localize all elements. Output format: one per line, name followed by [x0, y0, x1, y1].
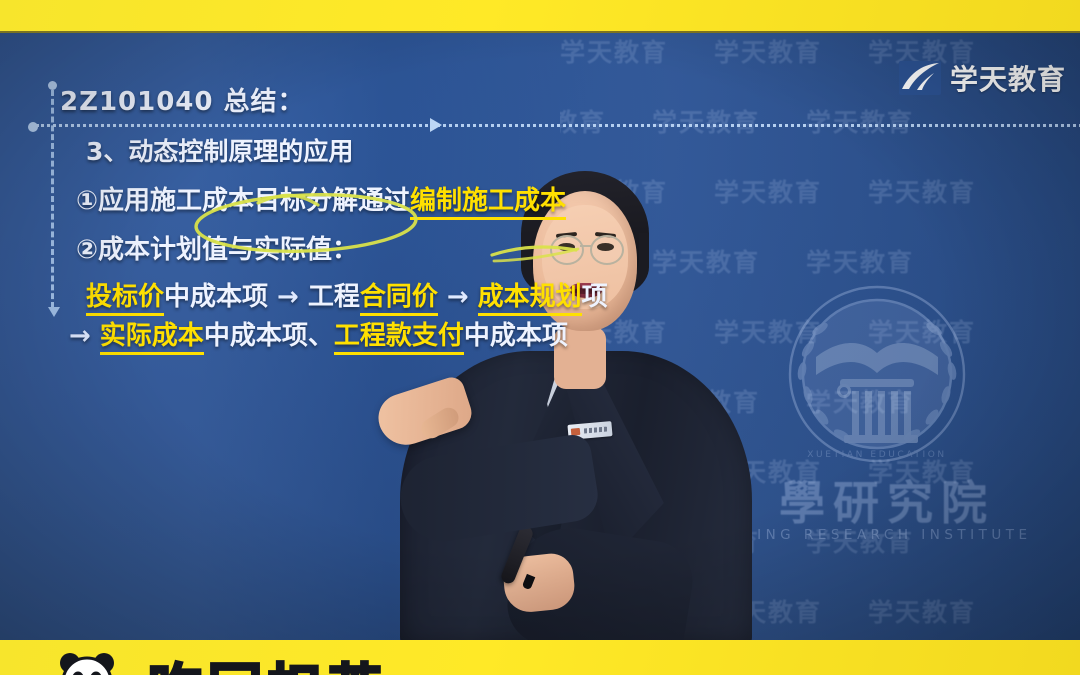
emblem-cn-text: 學研究院: [742, 467, 1032, 533]
line4-seg2-head: 工程: [308, 282, 360, 312]
watermark-text: 学天教育: [806, 243, 914, 279]
crest-icon: XUETIAN EDUCATION: [782, 279, 972, 469]
glasses-lens-right: [590, 235, 624, 265]
watermark-text: 学天教育: [868, 453, 976, 489]
watermark-text: 学天教育: [806, 523, 914, 559]
logo-wordmark: 学天教育: [950, 58, 1066, 98]
mouth: [570, 283, 602, 298]
panda-icon: [56, 650, 118, 675]
glasses-lens-left: [550, 235, 584, 265]
banner-text: 吃回扣苦: [148, 645, 388, 675]
glasses-bridge: [580, 245, 592, 247]
line2-marker: ①: [76, 186, 98, 216]
swoosh-mark-icon: [899, 61, 941, 95]
line3-text: 成本计划值与实际值：: [98, 235, 358, 265]
watermark-text: 学天教育: [868, 313, 976, 349]
watermark-text: 学天教育: [806, 383, 914, 419]
slide-title: 2Z101040 总结：: [60, 81, 305, 118]
watermark-text: 学天教育: [560, 103, 606, 139]
dotted-vertical-guide: [51, 90, 54, 308]
line3-marker: ②: [76, 235, 98, 265]
dotted-arrow-head: [430, 118, 442, 132]
watermark-text: 学天教育: [560, 33, 668, 69]
institute-emblem: XUETIAN EDUCATION 學研究院 HING RESEARCH INS…: [742, 279, 1032, 579]
neck: [554, 327, 606, 389]
watermark-text: 学天教育: [868, 173, 976, 209]
line2-plain-a: 应用施工: [98, 186, 202, 216]
flow-arrow-3: →: [60, 321, 100, 351]
dotted-horizontal-arrow: [36, 124, 1080, 127]
tick-annotation: [258, 195, 318, 205]
line4-seg1-highlight: 投标价: [86, 282, 164, 316]
screenshot-root: 学天教育学天教育学天教育 学天教育学天教育学天教育 学天教育学天教育学天教育 学…: [0, 0, 1080, 675]
slide-line-3: ②成本计划值与实际值：: [76, 229, 358, 266]
flow-arrow-1: →: [268, 282, 308, 312]
lecture-video-frame: 学天教育学天教育学天教育 学天教育学天教育学天教育 学天教育学天教育学天教育 学…: [0, 33, 1080, 640]
crest-caption: XUETIAN EDUCATION: [807, 450, 946, 460]
top-yellow-band: [0, 0, 1080, 33]
watermark-text: 学天教育: [714, 33, 822, 69]
brand-logo: 学天教育: [899, 58, 1066, 98]
line5-seg1-tail: 中成本项、: [204, 321, 334, 351]
slide-line-1: 3、动态控制原理的应用: [86, 132, 353, 168]
watermark-text: 学天教育: [868, 593, 976, 629]
presenter-figure: [378, 151, 778, 640]
line5-seg1-highlight: 实际成本: [100, 321, 204, 355]
emblem-en-text: HING RESEARCH INSTITUTE: [742, 527, 1032, 543]
watermark-text: 学天教育: [652, 103, 760, 139]
line4-seg1-tail: 中成本项: [164, 282, 268, 312]
watermark-text: 学天教育: [806, 103, 914, 139]
